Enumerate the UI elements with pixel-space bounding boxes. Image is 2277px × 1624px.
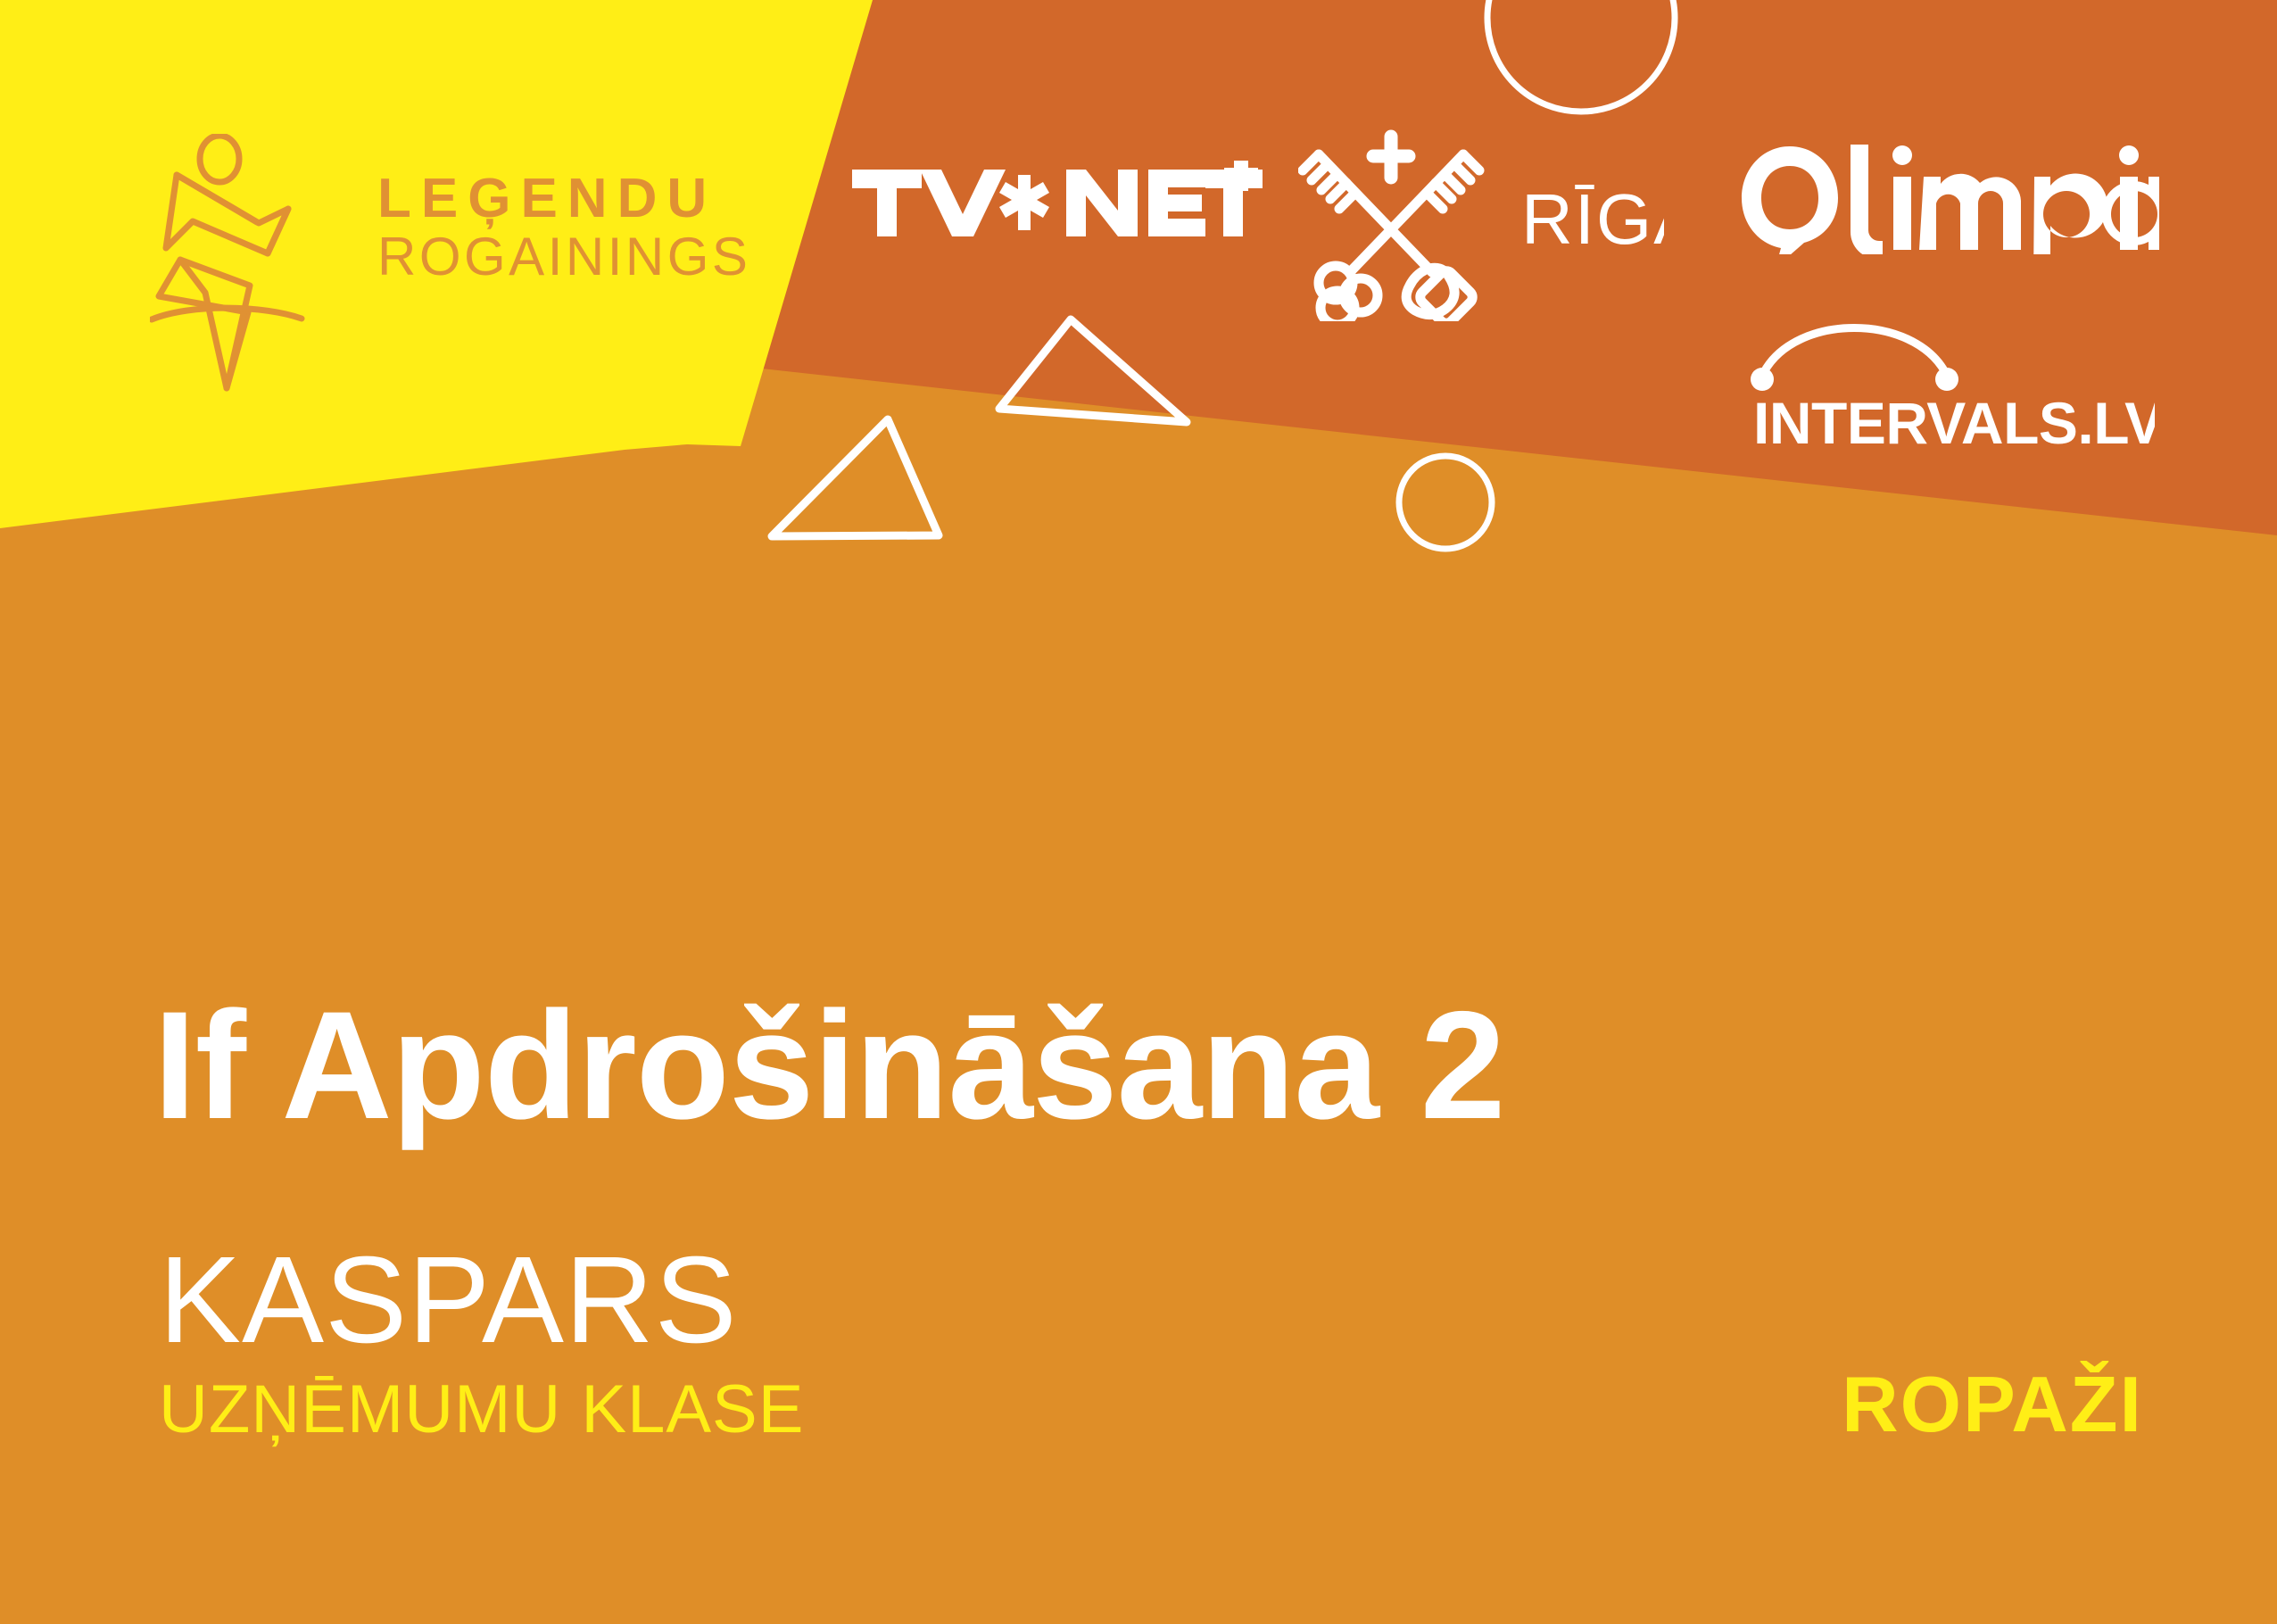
riga-crossed-keys-icon — [1303, 137, 1479, 321]
riga-logo: RĪGA — [1298, 129, 1664, 321]
location-label: ROPAŽI — [1842, 1365, 2143, 1444]
class-label: UZŅĒMUMU KLASE — [159, 1376, 804, 1444]
tvnet-star-icon — [999, 175, 1049, 230]
olimpia-speech-bubble-icon — [1742, 146, 1838, 254]
poster-canvas: LEĢENDU ROGAININGS — [0, 0, 2277, 1624]
brand-line-2: ROGAININGS — [377, 227, 761, 286]
intervals-lv-logo: INTERVALS.LV — [1726, 317, 2155, 451]
athlete-name: KASPARS — [159, 1239, 738, 1362]
brand-line-1: LEĢENDU — [377, 171, 761, 227]
tvnet-plus-logo — [852, 161, 1263, 245]
brand-wordmark: LEĢENDU ROGAININGS — [377, 171, 761, 286]
intervals-label: INTERVALS.LV — [1753, 390, 2155, 451]
riga-label: RĪGA — [1521, 179, 1664, 259]
intervals-arc-icon — [1751, 328, 1958, 392]
brand-lockup: LEĢENDU ROGAININGS — [150, 134, 774, 393]
olimpia-logo — [1740, 143, 2159, 254]
runner-icon — [150, 134, 337, 393]
page-title: If Apdrošināšana 2 — [153, 989, 1504, 1142]
